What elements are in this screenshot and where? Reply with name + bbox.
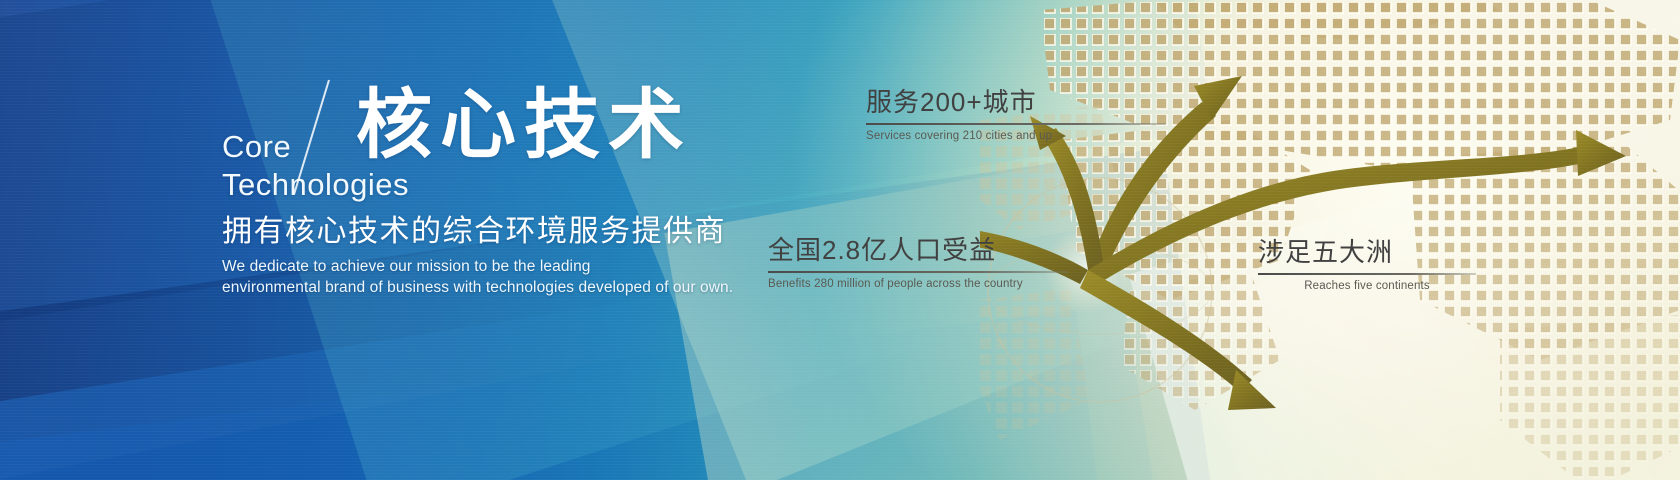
callout-continents-rule [1258,273,1476,275]
callout-population-benefit: 全国2.8亿人口受益 Benefits 280 million of peopl… [768,234,1068,292]
callout-five-continents: 涉足五大洲 Reaches five continents [1258,236,1476,294]
callout-services-cities: 服务200+城市 Services covering 210 cities an… [866,86,1166,144]
callout-people-title: 全国2.8亿人口受益 [768,234,1068,266]
callout-cities-title: 服务200+城市 [866,86,1166,118]
hero-banner: Core Technologies 核心技术 拥有核心技术的综合环境服务提供商 … [0,0,1680,480]
page-title: 核心技术 [356,84,692,168]
callout-continents-caption: Reaches five continents [1258,279,1476,294]
callout-cities-rule [866,123,1166,125]
callout-continents-title: 涉足五大洲 [1258,236,1476,268]
callout-cities-caption: Services covering 210 cities and up [866,129,1166,144]
callout-people-rule [768,271,1068,273]
callout-people-caption: Benefits 280 million of people across th… [768,277,1068,292]
hero-eyebrow-line2: Technologies [222,166,409,204]
headline-row: Core Technologies 核心技术 [222,76,922,204]
